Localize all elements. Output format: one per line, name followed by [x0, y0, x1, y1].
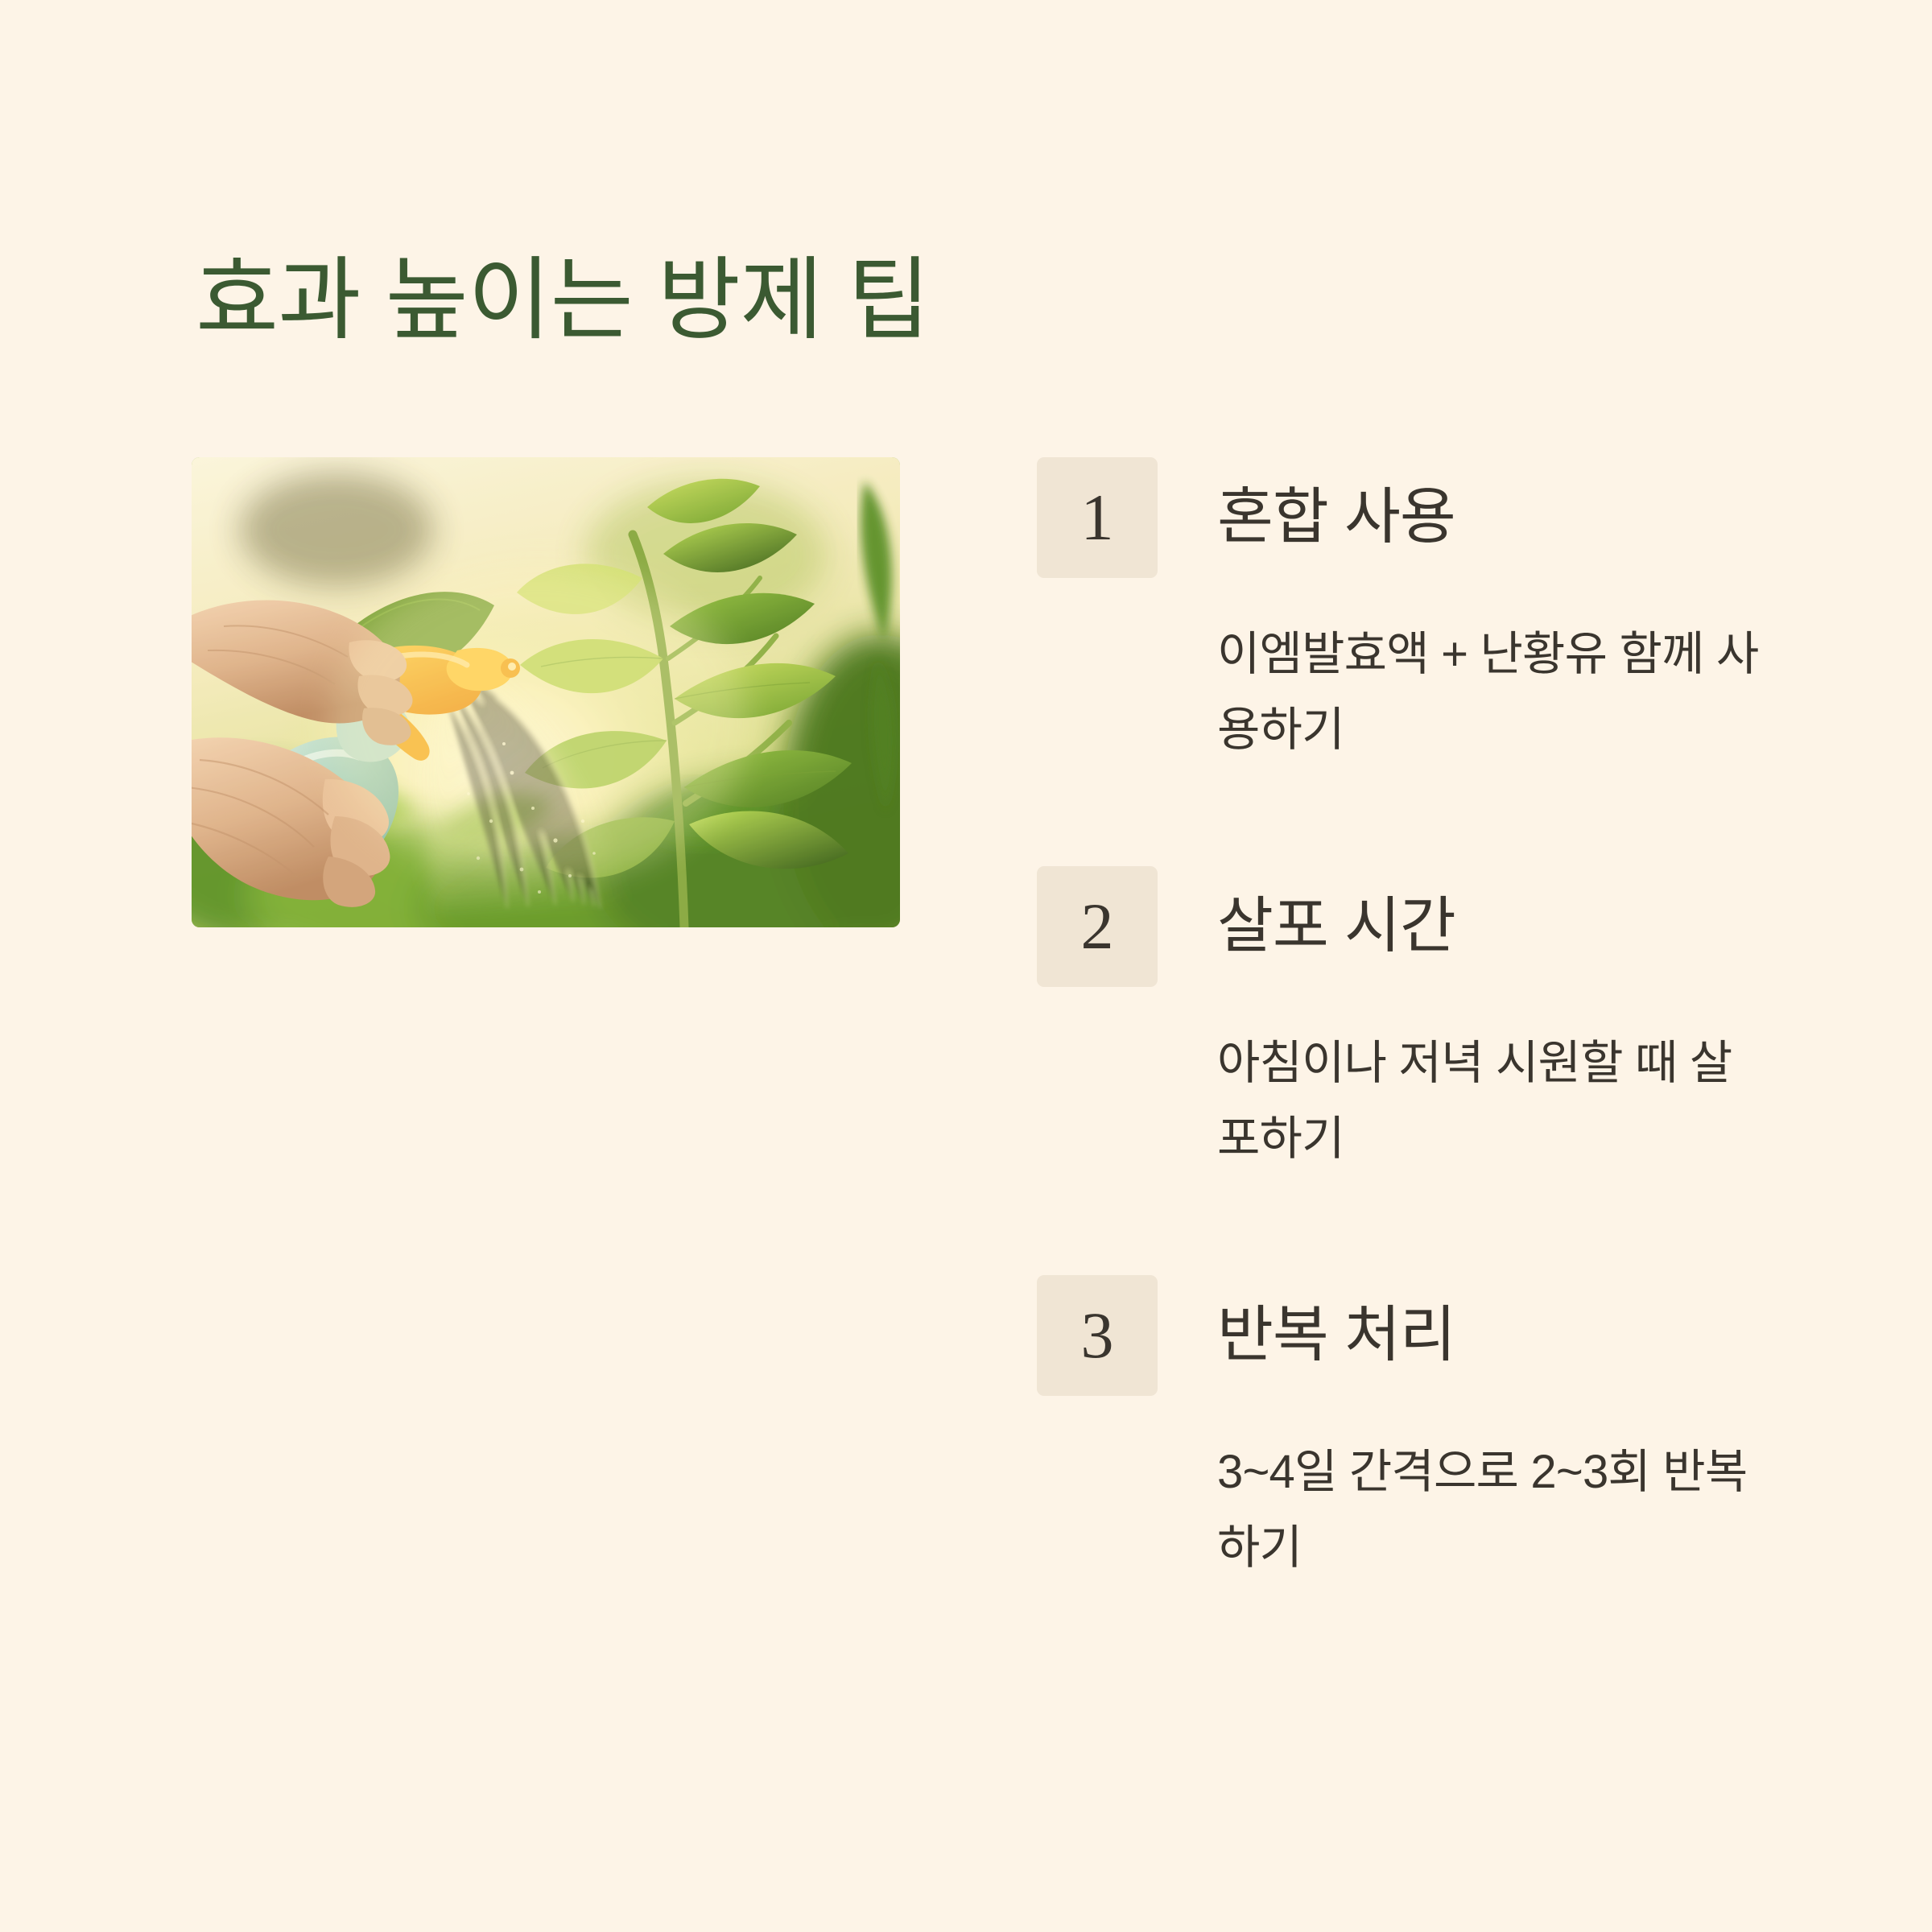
tip-number-badge: 3 — [1037, 1275, 1158, 1396]
tip-description: 이엠발효액 + 난황유 함께 사용하기 — [1217, 617, 1765, 768]
tip-item-2: 2 살포 시간 아침이나 저녁 시원할 때 살포하기 — [1037, 866, 1810, 1177]
tip-number-badge: 1 — [1037, 457, 1158, 578]
tip-description: 3~4일 간격으로 2~3회 반복하기 — [1217, 1435, 1765, 1586]
tip-header: 1 혼합 사용 — [1037, 457, 1810, 578]
tip-header: 2 살포 시간 — [1037, 866, 1810, 987]
tip-item-1: 1 혼합 사용 이엠발효액 + 난황유 함께 사용하기 — [1037, 457, 1810, 768]
page-title: 효과 높이는 방제 팁 — [196, 244, 930, 357]
tip-title: 혼합 사용 — [1158, 457, 1810, 556]
tip-title: 반복 처리 — [1158, 1275, 1810, 1374]
tip-item-3: 3 반복 처리 3~4일 간격으로 2~3회 반복하기 — [1037, 1275, 1810, 1586]
spray-photo — [192, 457, 900, 927]
tip-header: 3 반복 처리 — [1037, 1275, 1810, 1396]
slide-card: 효과 높이는 방제 팁 — [0, 0, 1932, 1932]
tip-title: 살포 시간 — [1158, 866, 1810, 965]
tips-list: 1 혼합 사용 이엠발효액 + 난황유 함께 사용하기 2 살포 시간 아침이나… — [1037, 457, 1810, 1586]
tip-description: 아침이나 저녁 시원할 때 살포하기 — [1217, 1026, 1765, 1177]
tip-number-badge: 2 — [1037, 866, 1158, 987]
